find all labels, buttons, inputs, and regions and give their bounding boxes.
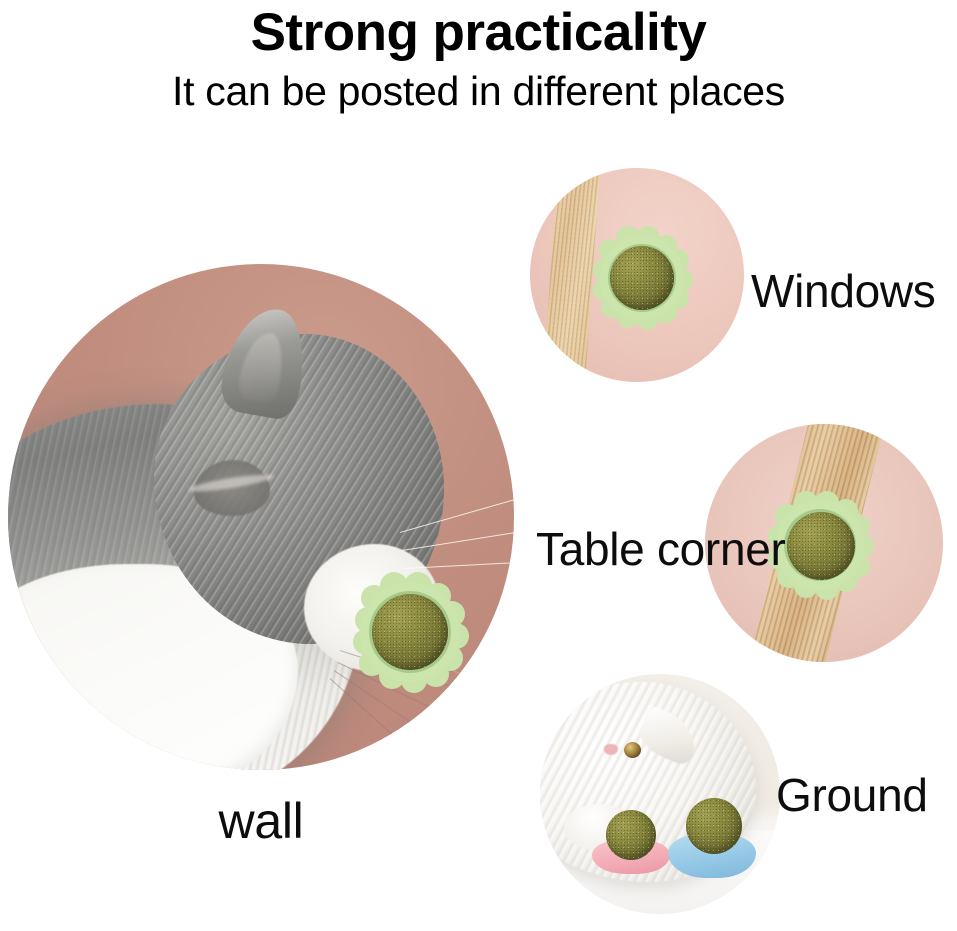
panel-label-ground: Ground (776, 772, 928, 818)
panel-ground-photo (540, 674, 780, 914)
panel-label-windows: Windows (751, 268, 936, 314)
catnip-ball (372, 594, 448, 670)
white-cat-eye (624, 742, 641, 758)
catnip-ball (606, 810, 656, 860)
white-cat-nose (604, 744, 618, 755)
panel-label-wall: wall (8, 796, 514, 846)
catnip-ball (686, 798, 742, 854)
page-title: Strong practicality (0, 4, 957, 61)
panel-windows-photo (530, 168, 744, 382)
catnip-ball-toy (346, 564, 474, 694)
catnip-ball-toy-pink (598, 802, 664, 868)
panel-label-table-corner: Table corner (536, 526, 786, 572)
catnip-ball (610, 246, 674, 310)
catnip-ball-toy (588, 222, 696, 330)
catnip-ball (787, 512, 855, 580)
product-infographic: Strong practicality It can be posted in … (0, 0, 957, 931)
catnip-ball-toy-blue (678, 792, 750, 864)
panel-wall-photo (8, 264, 514, 770)
page-subtitle: It can be posted in different places (0, 69, 957, 114)
